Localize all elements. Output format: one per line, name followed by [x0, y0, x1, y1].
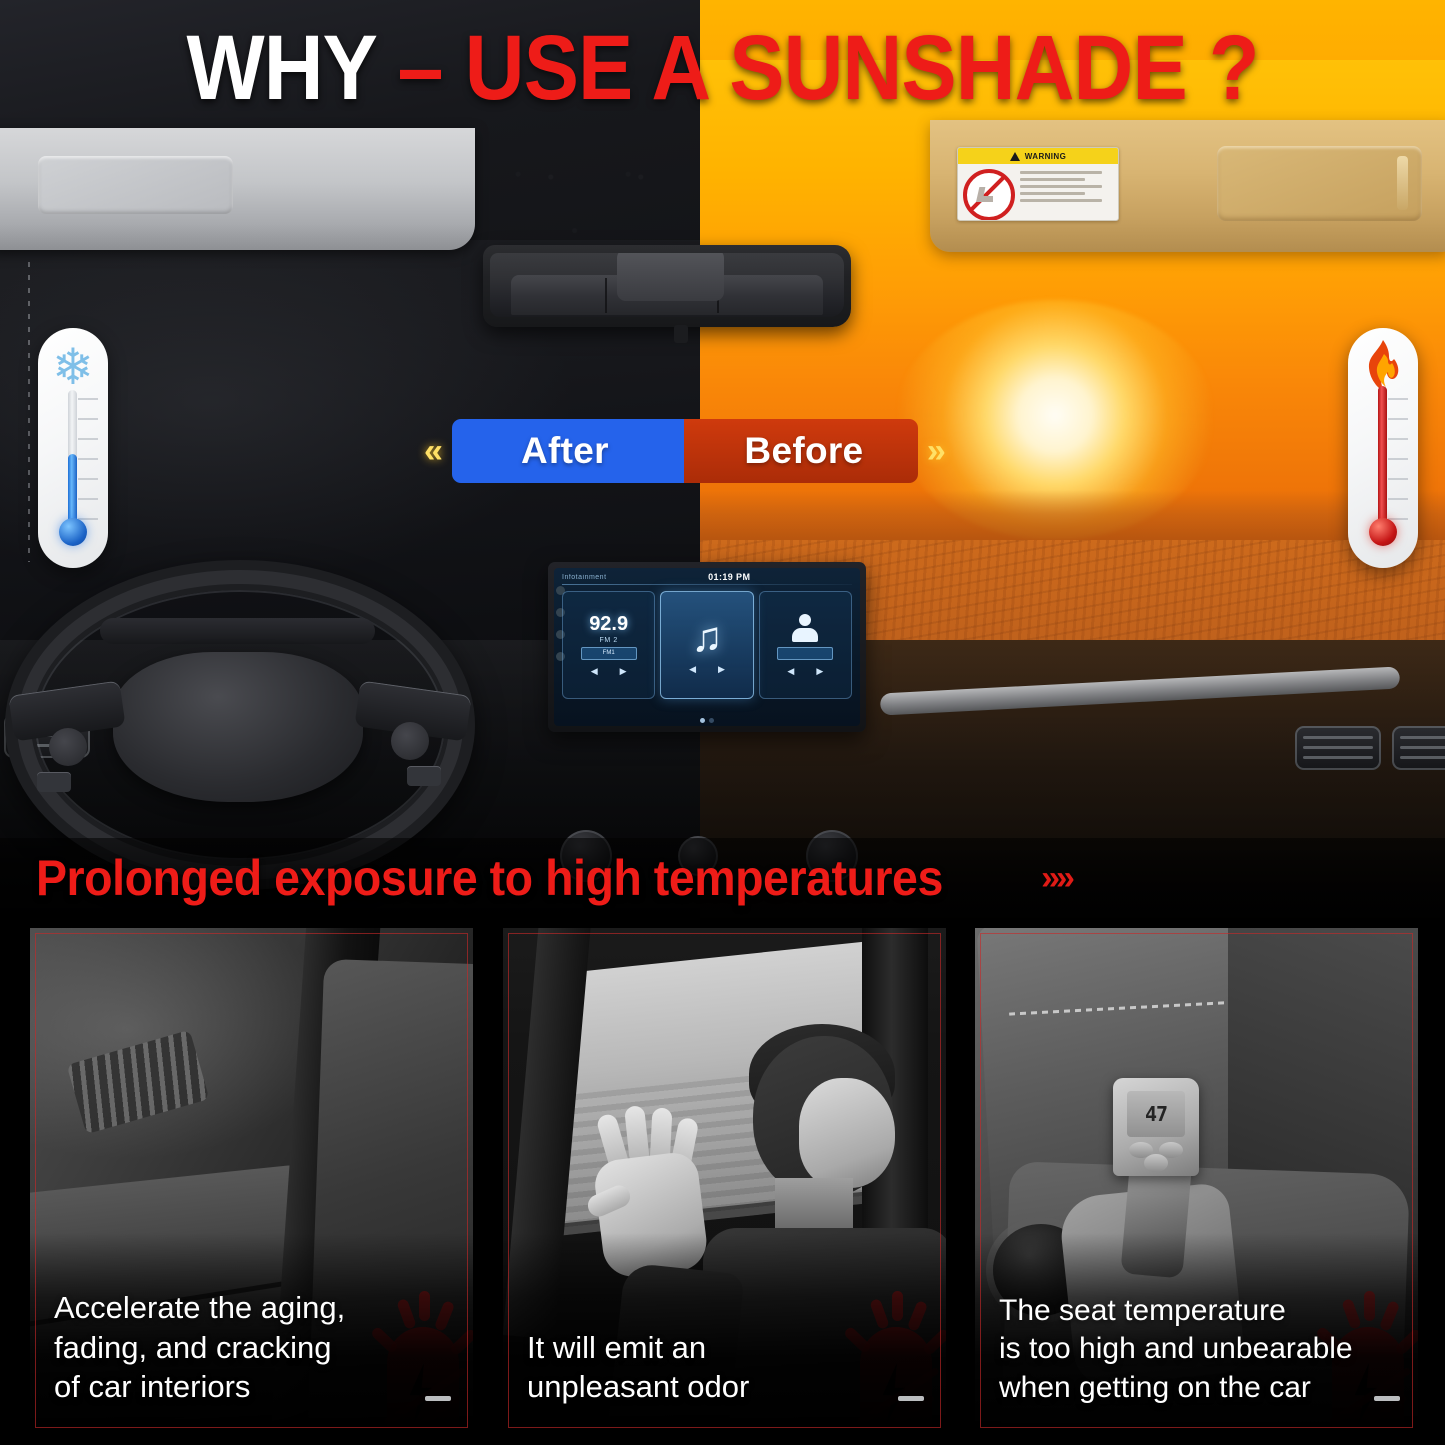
rearview-mirror	[483, 245, 851, 327]
subtitle-band: Prolonged exposure to high temperatures …	[0, 838, 1445, 918]
person-face	[799, 1078, 895, 1188]
steering-button-cluster-left[interactable]	[49, 728, 87, 766]
warning-header-bar: WARNING	[958, 148, 1118, 164]
radio-seek-controls[interactable]: ◀ ▶	[591, 666, 627, 677]
phone-card[interactable]: ◀ ▶	[759, 591, 852, 699]
before-badge: Before	[684, 419, 918, 483]
head-unit-cards: 92.9 FM 2 FM1 ◀ ▶ ♫ ◀ ▶	[554, 585, 860, 703]
mirror-glass	[490, 253, 844, 317]
thermometer-button[interactable]	[1144, 1154, 1168, 1172]
person-icon	[790, 614, 820, 644]
mirror-stem	[674, 325, 688, 343]
panel-seat-temperature: 47 The seat temperature is too h	[975, 928, 1418, 1433]
panel-unpleasant-odor: It will emit an unpleasant odor	[503, 928, 946, 1433]
warning-heading: WARNING	[1025, 152, 1066, 161]
air-vent-right	[1295, 726, 1381, 770]
gray-sun-visor	[0, 128, 475, 250]
warning-line	[1020, 178, 1085, 181]
warning-line	[1020, 185, 1102, 188]
infrared-thermometer: 47	[1113, 1078, 1199, 1176]
page-dot-active[interactable]	[700, 718, 705, 723]
caption-underscore	[425, 1396, 451, 1401]
radio-frequency: 92.9	[589, 614, 628, 634]
contact-next-icon[interactable]: ▶	[816, 666, 823, 677]
radio-prev-icon[interactable]: ◀	[591, 666, 598, 677]
warning-line	[1020, 199, 1102, 202]
visor-pocket	[1217, 146, 1422, 221]
panel-caption: It will emit an unpleasant odor	[527, 1328, 890, 1407]
radio-band: FM 2	[599, 637, 617, 644]
radio-preset-chip[interactable]: FM1	[581, 647, 637, 660]
infotainment-head-unit[interactable]: Infotainment 01:19 PM 92.9 FM 2 FM1 ◀ ▶	[548, 562, 866, 732]
thermometer-bulb-cold	[59, 518, 87, 546]
panel-interior-aging: Accelerate the aging, fading, and cracki…	[30, 928, 473, 1433]
thermometer-reading: 47	[1145, 1102, 1167, 1126]
warning-text-lines	[1020, 169, 1113, 221]
no-child-seat-icon	[963, 169, 1015, 221]
panel-caption: Accelerate the aging, fading, and cracki…	[54, 1288, 417, 1407]
title-white-part: WHY	[186, 17, 397, 119]
hero-comparison: WARNING	[0, 0, 1445, 918]
media-next-icon[interactable]: ▶	[718, 664, 725, 675]
vent-slat	[1400, 746, 1445, 749]
head-unit-brand: Infotainment	[562, 574, 607, 581]
warning-line	[1020, 192, 1085, 195]
cold-thermometer: ❄	[38, 328, 108, 568]
page-indicator-dots[interactable]	[554, 718, 860, 723]
warning-line	[1020, 171, 1102, 174]
left-chevron-icon: «	[424, 434, 443, 468]
airbag-warning-sticker: WARNING	[957, 147, 1119, 221]
caption-underscore	[1374, 1396, 1400, 1401]
warning-triangle-icon	[1010, 152, 1020, 161]
head-unit-clock: 01:19 PM	[708, 572, 750, 582]
media-prev-icon[interactable]: ◀	[689, 664, 696, 675]
head-unit-screen[interactable]: Infotainment 01:19 PM 92.9 FM 2 FM1 ◀ ▶	[554, 568, 860, 726]
vent-slat	[1303, 756, 1373, 759]
radio-next-icon[interactable]: ▶	[620, 666, 627, 677]
thermometer-fill-cold	[68, 454, 77, 526]
thermometer-fill-hot	[1378, 386, 1387, 526]
thermometer-ticks	[1388, 398, 1408, 538]
subtitle-text: Prolonged exposure to high temperatures	[36, 849, 943, 907]
steering-top-spoke	[100, 618, 375, 644]
head-unit-status-bar: Infotainment 01:19 PM	[554, 568, 860, 584]
vent-slat	[1400, 736, 1445, 739]
mirror-headrest-reflection	[617, 253, 723, 301]
airbag-hub	[113, 652, 363, 802]
steering-button-cluster-right[interactable]	[391, 722, 429, 760]
beige-sun-visor: WARNING	[930, 120, 1445, 252]
caption-underscore	[898, 1396, 924, 1401]
air-vent-far-right	[1392, 726, 1445, 770]
contact-prev-icon[interactable]: ◀	[787, 666, 794, 677]
contact-nav-controls[interactable]: ◀ ▶	[787, 666, 823, 677]
contact-chip[interactable]	[777, 647, 833, 660]
visor-tab	[48, 164, 60, 206]
music-note-icon: ♫	[691, 616, 723, 658]
warning-body	[958, 164, 1118, 221]
steering-button-b[interactable]	[407, 766, 441, 786]
media-transport-controls[interactable]: ◀ ▶	[689, 664, 725, 675]
vent-slat	[1303, 736, 1373, 739]
title-red-part: – USE A SUNSHADE ?	[398, 17, 1259, 119]
defroster-vent	[67, 1030, 210, 1134]
thermometer-bulb-hot	[1369, 518, 1397, 546]
radio-card[interactable]: 92.9 FM 2 FM1 ◀ ▶	[562, 591, 655, 699]
subtitle-chevrons-icon: »»	[1041, 859, 1071, 898]
thermometer-display: 47	[1127, 1091, 1185, 1137]
thermometer-ticks	[78, 398, 98, 538]
before-after-badges: « After Before »	[424, 418, 946, 484]
person-head	[799, 614, 811, 626]
product-infographic: WARNING	[0, 0, 1445, 1445]
panel-caption: The seat temperature is too high and unb…	[999, 1292, 1374, 1407]
media-card[interactable]: ♫ ◀ ▶	[660, 591, 753, 699]
page-dot[interactable]	[709, 718, 714, 723]
snowflake-icon: ❄	[46, 340, 100, 394]
page-title: WHY – USE A SUNSHADE ?	[72, 22, 1373, 114]
right-chevron-icon: »	[927, 434, 946, 468]
steering-button-a[interactable]	[37, 772, 71, 792]
vent-slat	[1303, 746, 1373, 749]
after-badge: After	[452, 419, 684, 483]
person-body	[792, 628, 818, 642]
hot-thermometer	[1348, 328, 1418, 568]
vent-slat	[1400, 756, 1445, 759]
sunshade-stitching	[28, 262, 30, 562]
benefit-panels: Accelerate the aging, fading, and cracki…	[0, 918, 1445, 1445]
child-seat-glyph	[976, 187, 993, 202]
